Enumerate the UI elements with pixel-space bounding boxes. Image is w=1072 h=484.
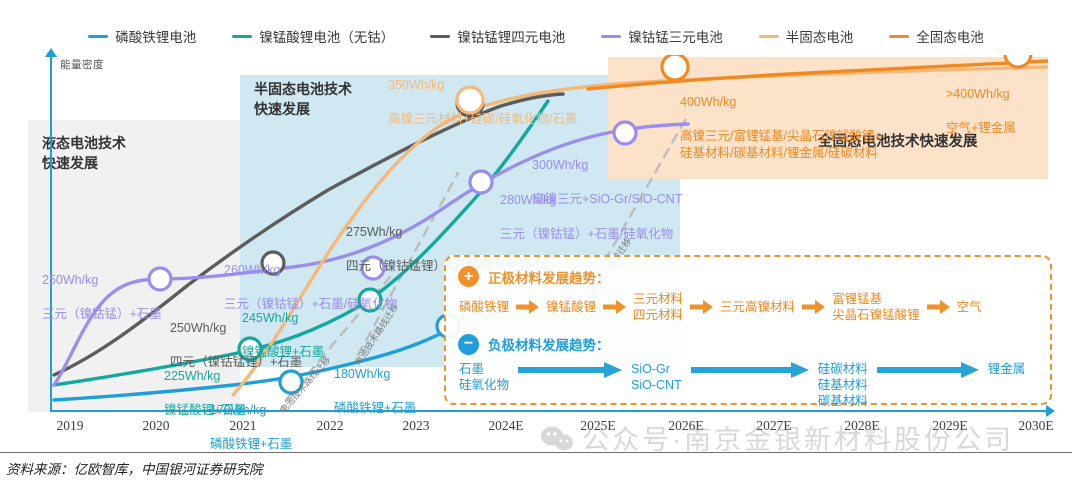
cathode-step-1: 磷酸铁锂 xyxy=(459,299,509,315)
minus-icon: − xyxy=(458,334,479,355)
x-tick-2026E: 2026E xyxy=(668,418,703,434)
legend-label-ncm: 镍钴锰三元电池 xyxy=(628,26,723,46)
legend-label-all-solid: 全固态电池 xyxy=(916,26,984,46)
point-desc: 三元（镍钴锰）+石墨/硅氧化物 xyxy=(500,226,673,243)
point-value: 225Wh/kg xyxy=(164,368,246,385)
anode-step-3: 硅碳材料 硅基材料 碳基材料 xyxy=(818,361,868,410)
x-tick-2020: 2020 xyxy=(143,418,170,434)
point-value: 300Wh/kg xyxy=(532,157,682,174)
material-trends-box: + 正极材料发展趋势： 磷酸铁锂 镍锰酸锂 三元材料 四元材料 三元高镍材料 富… xyxy=(444,255,1052,405)
arrow-right-icon xyxy=(603,300,626,314)
arrow-right-icon xyxy=(927,300,950,314)
point-desc: 空气+锂金属 xyxy=(946,120,1016,137)
cathode-step-2: 镍锰酸锂 xyxy=(546,299,596,315)
point-desc: 三元（镍钴锰）+石墨/硅氧化物 xyxy=(224,296,397,313)
point-desc: 磷酸铁锂+石墨 xyxy=(334,400,416,417)
point-desc: 镍锰酸锂+石墨 xyxy=(242,344,324,361)
x-tick-2023: 2023 xyxy=(403,418,430,434)
x-tick-2030E: 2030E xyxy=(1018,418,1053,434)
arrow-right-icon xyxy=(802,300,825,314)
arrow-right-icon xyxy=(691,362,809,378)
x-axis-ticks: 2019 2020 2021 2022 2023 2024E 2025E 202… xyxy=(28,418,1048,438)
marker-ncm-280 xyxy=(470,171,492,193)
x-tick-2022: 2022 xyxy=(317,418,344,434)
legend-swatch-quaternary xyxy=(430,35,450,38)
legend-swatch-lfp xyxy=(88,35,108,38)
anode-step-2: SiO-Gr SiO-CNT xyxy=(631,361,682,394)
legend-item-ncm[interactable]: 镍钴锰三元电池 xyxy=(601,26,723,46)
anode-header: − 负极材料发展趋势： xyxy=(458,334,1050,355)
x-tick-2024E: 2024E xyxy=(488,418,523,434)
chart-root: 磷酸铁锂电池 镍锰酸锂电池（无钴） 镍钴锰锂四元电池 镍钴锰三元电池 半固态电池… xyxy=(0,0,1072,484)
anode-step-4: 锂金属 xyxy=(988,361,1026,377)
point-desc: 三元（镍钴锰）+石墨 xyxy=(42,306,162,323)
point-desc: 高镍三元材料+硅碳/硅氧化物/石墨 xyxy=(388,111,577,128)
legend-item-nmo[interactable]: 镍锰酸锂电池（无钴） xyxy=(232,26,394,46)
point-desc: 磷酸铁锂+石墨 xyxy=(210,436,292,453)
cathode-step-3: 三元材料 四元材料 xyxy=(633,291,683,324)
legend-label-lfp: 磷酸铁锂电池 xyxy=(115,26,196,46)
legend-swatch-nmo xyxy=(232,35,252,38)
legend-label-semi-solid: 半固态电池 xyxy=(786,26,854,46)
point-value: 250Wh/kg xyxy=(42,272,162,289)
arrow-right-icon xyxy=(516,300,539,314)
arrow-right-icon xyxy=(518,362,622,378)
source-note: 资料来源：亿欧智库，中国银河证券研究院 xyxy=(6,458,263,478)
x-tick-2028E: 2028E xyxy=(844,418,879,434)
legend-swatch-semi-solid xyxy=(759,35,779,38)
point-value: 350Wh/kg xyxy=(388,77,577,94)
arrow-right-icon xyxy=(690,300,713,314)
point-desc: 高镍三元+SiO-Gr/SiO-CNT xyxy=(532,191,682,208)
legend-swatch-all-solid xyxy=(889,35,909,38)
cathode-title: 正极材料发展趋势： xyxy=(488,267,610,287)
legend-item-quaternary[interactable]: 镍钴锰锂四元电池 xyxy=(430,26,565,46)
x-tick-2025E: 2025E xyxy=(580,418,615,434)
footer-divider xyxy=(0,452,1072,453)
x-tick-2019: 2019 xyxy=(57,418,84,434)
point-value: 170Wh/kg xyxy=(210,402,292,419)
anode-title: 负极材料发展趋势： xyxy=(488,334,610,354)
marker-solid-400plus xyxy=(1005,55,1031,67)
point-label-ncm-250: 250Wh/kg 三元（镍钴锰）+石墨 xyxy=(42,255,162,339)
legend-label-nmo: 镍锰酸锂电池（无钴） xyxy=(259,26,394,46)
legend-item-lfp[interactable]: 磷酸铁锂电池 xyxy=(88,26,196,46)
legend-label-quaternary: 镍钴锰锂四元电池 xyxy=(457,26,565,46)
legend-item-semi-solid[interactable]: 半固态电池 xyxy=(759,26,854,46)
x-tick-2029E: 2029E xyxy=(932,418,967,434)
plus-icon: + xyxy=(458,266,479,287)
cathode-step-5: 富锂锰基 尖晶石镍锰酸锂 xyxy=(832,291,920,324)
legend-item-all-solid[interactable]: 全固态电池 xyxy=(889,26,984,46)
x-tick-2021: 2021 xyxy=(230,418,257,434)
point-value: >400Wh/kg xyxy=(946,86,1016,103)
point-desc: 高镍三元/富锂锰基/尖晶石镍锰酸锂+ 硅基材料/碳基材料/锂金属/硅碳材料 xyxy=(680,128,882,162)
arrow-right-icon xyxy=(877,362,979,378)
x-tick-2027E: 2027E xyxy=(756,418,791,434)
point-value: 400Wh/kg xyxy=(680,94,882,111)
point-label-solid-400plus: >400Wh/kg 空气+锂金属 xyxy=(946,69,1016,153)
point-value: 180Wh/kg xyxy=(334,366,416,383)
anode-flow: 石墨 硅氧化物 SiO-Gr SiO-CNT 硅碳材料 硅基材料 碳基材料 锂金… xyxy=(459,359,1050,410)
cathode-flow: 磷酸铁锂 镍锰酸锂 三元材料 四元材料 三元高镍材料 富锂锰基 尖晶石镍锰酸锂 … xyxy=(459,291,1050,324)
cathode-header: + 正极材料发展趋势： xyxy=(458,266,1050,287)
point-label-ncm-300: 300Wh/kg 高镍三元+SiO-Gr/SiO-CNT xyxy=(532,140,682,224)
legend-swatch-ncm xyxy=(601,35,621,38)
chart-legend: 磷酸铁锂电池 镍锰酸锂电池（无钴） 镍钴锰锂四元电池 镍钴锰三元电池 半固态电池… xyxy=(0,24,1072,48)
anode-step-1: 石墨 硅氧化物 xyxy=(459,361,509,394)
point-label-solid-400: 400Wh/kg 高镍三元/富锂锰基/尖晶石镍锰酸锂+ 硅基材料/碳基材料/锂金… xyxy=(680,77,882,178)
point-label-semi-350: 350Wh/kg 高镍三元材料+硅碳/硅氧化物/石墨 xyxy=(388,60,577,144)
cathode-step-4: 三元高镍材料 xyxy=(720,299,795,315)
cathode-step-6: 空气 xyxy=(957,299,982,315)
